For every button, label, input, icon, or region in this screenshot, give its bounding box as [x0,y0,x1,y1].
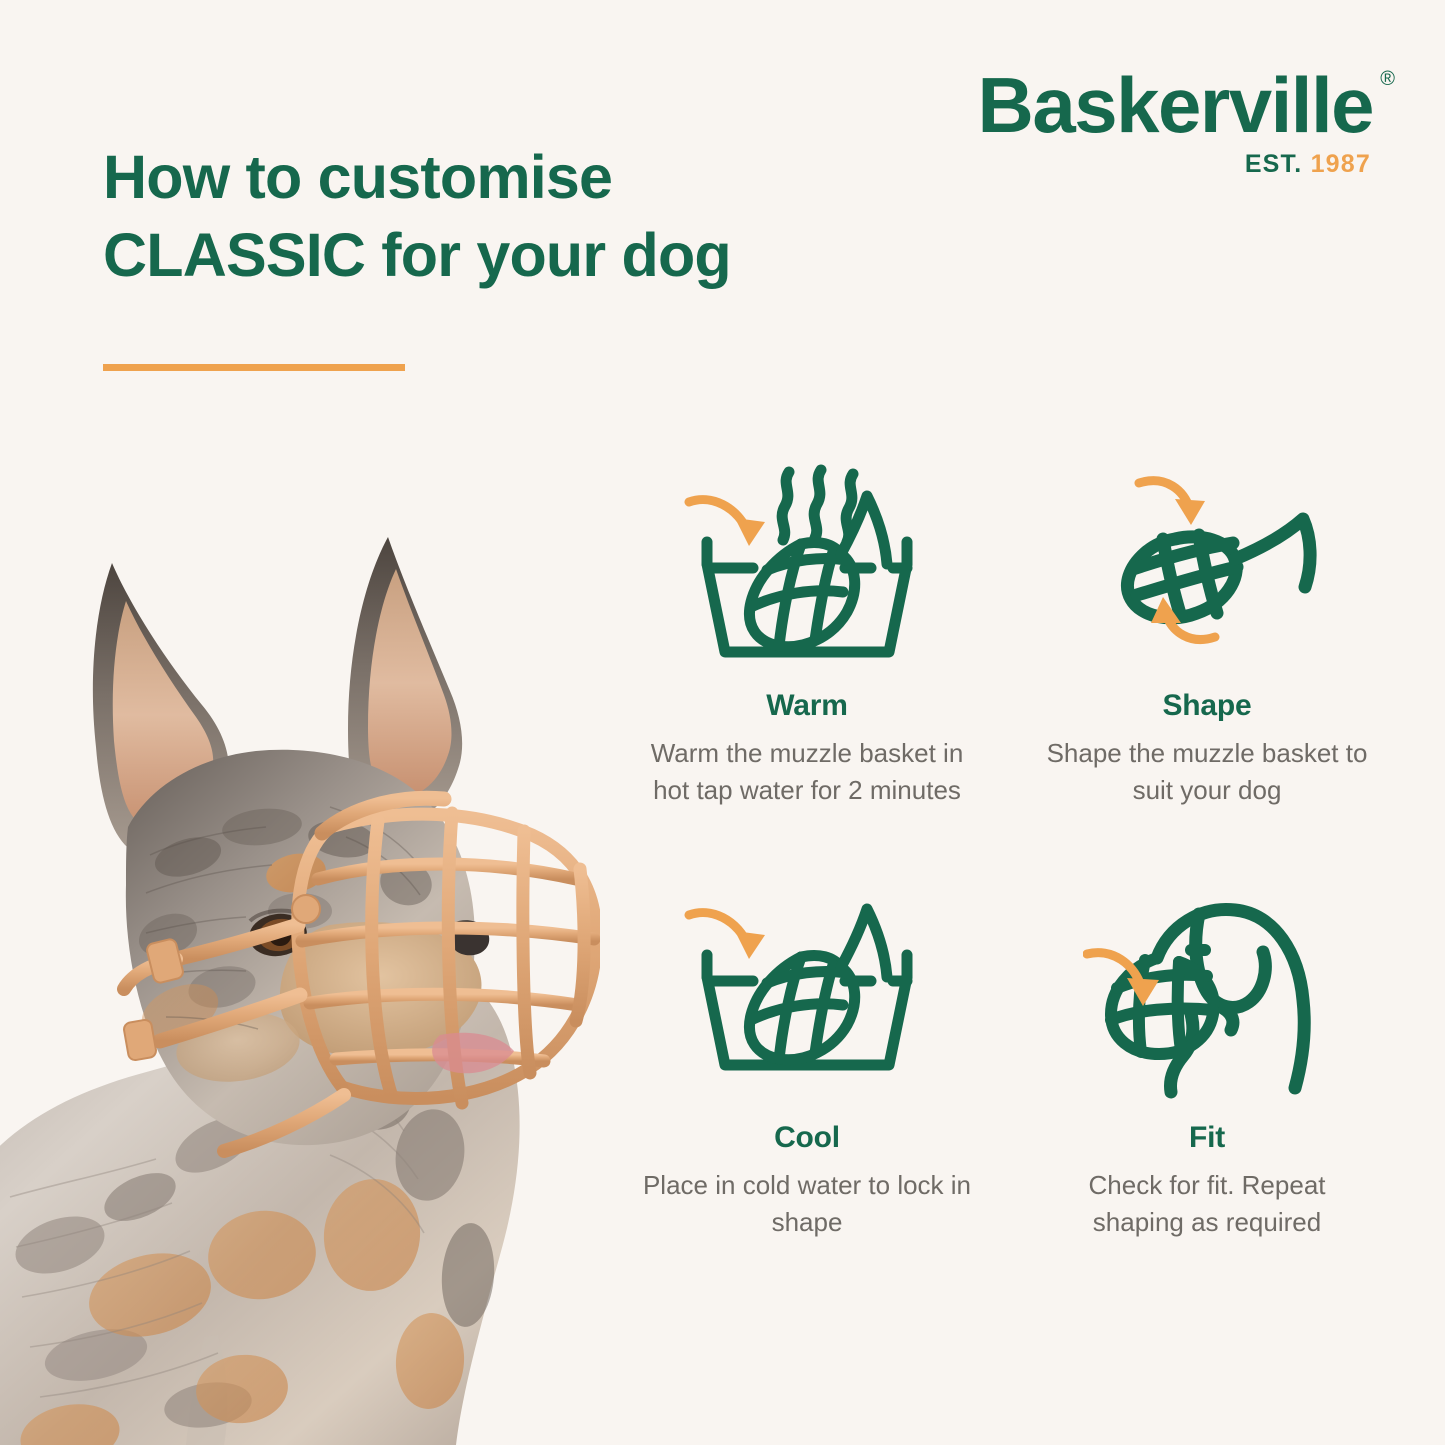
steps-grid: Warm Warm the muzzle basket in hot tap w… [612,455,1402,1285]
muzzle-squeeze-arrows-icon [1085,455,1329,687]
step-description-fit: Check for fit. Repeat shaping as require… [1042,1167,1372,1241]
brand-name: Baskerville® [978,68,1373,142]
step-card-cool: Cool Place in cold water to lock in shap… [612,887,1002,1285]
registered-trademark-icon: ® [1380,70,1395,89]
brand-logo: Baskerville® EST. 1987 [978,68,1373,177]
dog-photo [0,455,600,1445]
step-title-fit: Fit [1189,1121,1225,1155]
infographic-page: Baskerville® EST. 1987 How to customise … [0,0,1445,1445]
page-title-line-2: CLASSIC for your dog [103,221,731,289]
step-description-shape: Shape the muzzle basket to suit your dog [1042,735,1372,809]
step-title-cool: Cool [774,1121,840,1155]
brand-name-text: Baskerville [978,61,1373,149]
basin-with-muzzle-steam-icon [681,455,933,687]
step-title-shape: Shape [1162,689,1251,723]
step-description-warm: Warm the muzzle basket in hot tap water … [642,735,972,809]
step-card-warm: Warm Warm the muzzle basket in hot tap w… [612,455,1002,853]
title-underline-rule [103,364,405,371]
step-card-shape: Shape Shape the muzzle basket to suit yo… [1012,455,1402,853]
step-description-cool: Place in cold water to lock in shape [642,1167,972,1241]
page-title: How to customise CLASSIC for your dog [103,138,863,294]
step-card-fit: Fit Check for fit. Repeat shaping as req… [1012,887,1402,1285]
step-title-warm: Warm [766,689,847,723]
brand-est-label: EST. [1245,150,1303,178]
brand-established: EST. 1987 [978,152,1371,177]
basin-with-muzzle-cold-icon [681,887,933,1119]
dog-head-with-muzzle-icon [1083,887,1331,1119]
brand-est-year: 1987 [1311,150,1371,178]
page-title-line-1: How to customise [103,143,612,211]
